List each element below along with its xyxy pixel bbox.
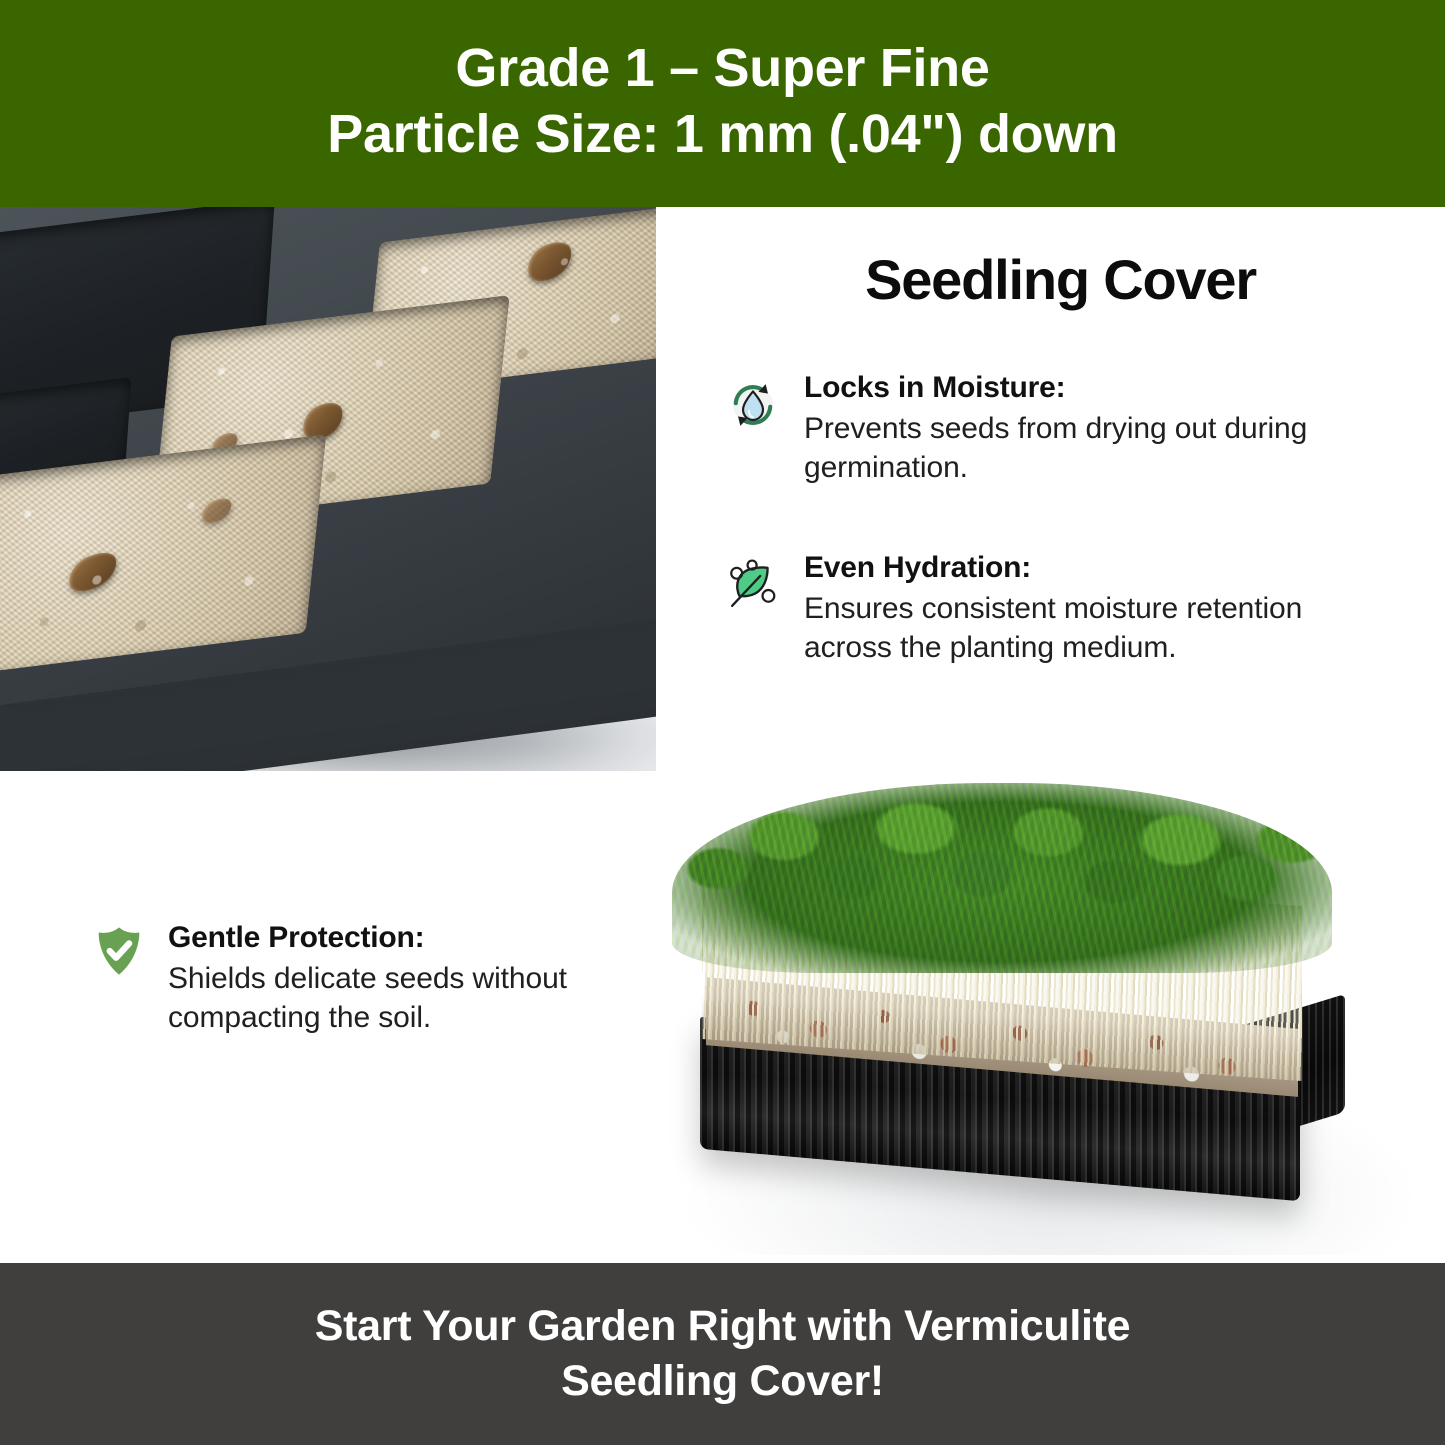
page-title: Seedling Cover xyxy=(676,247,1445,312)
feature-body: Ensures consistent moisture retention ac… xyxy=(804,589,1394,667)
feature-heading: Even Hydration: xyxy=(804,550,1394,587)
feature-text: Even Hydration: Ensures consistent moist… xyxy=(804,550,1394,667)
header-line-1: Grade 1 – Super Fine xyxy=(455,36,989,102)
feature-heading: Locks in Moisture: xyxy=(804,370,1424,407)
leaf-hydration-icon xyxy=(724,556,782,614)
header-banner: Grade 1 – Super Fine Particle Size: 1 mm… xyxy=(0,0,1445,207)
feature-gentle-protection: Gentle Protection: Shields delicate seed… xyxy=(92,920,592,1037)
header-line-2: Particle Size: 1 mm (.04") down xyxy=(327,102,1118,168)
seed xyxy=(524,235,575,287)
feature-locks-in-moisture: Locks in Moisture: Prevents seeds from d… xyxy=(724,370,1424,487)
footer-line-2: Seedling Cover! xyxy=(561,1354,884,1409)
water-droplet-recycle-icon xyxy=(724,376,782,434)
feature-even-hydration: Even Hydration: Ensures consistent moist… xyxy=(724,550,1394,667)
shield-check-icon xyxy=(92,924,146,978)
footer-line-1: Start Your Garden Right with Vermiculite xyxy=(315,1299,1131,1354)
feature-heading: Gentle Protection: xyxy=(168,920,592,957)
feature-text: Gentle Protection: Shields delicate seed… xyxy=(168,920,592,1037)
microgreens-photo xyxy=(620,775,1445,1255)
right-content-column: Seedling Cover Locks in Moisture: Preven… xyxy=(676,207,1445,771)
feature-body: Shields delicate seeds without compactin… xyxy=(168,959,592,1037)
seed xyxy=(66,546,120,598)
feature-text: Locks in Moisture: Prevents seeds from d… xyxy=(804,370,1424,487)
feature-body: Prevents seeds from drying out during ge… xyxy=(804,409,1424,487)
footer-banner: Start Your Garden Right with Vermiculite… xyxy=(0,1263,1445,1445)
seed xyxy=(200,494,234,527)
seed-tray-photo xyxy=(0,207,656,771)
